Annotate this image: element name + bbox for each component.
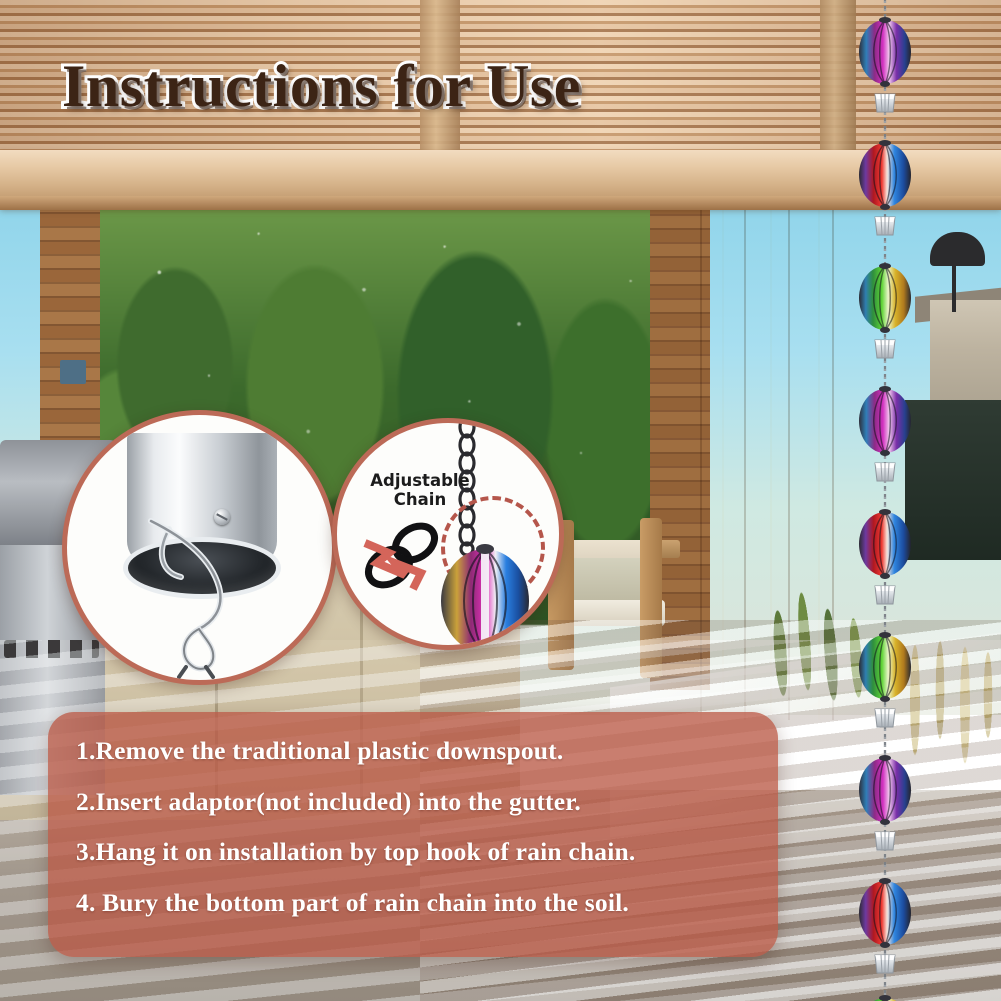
rain-chain bbox=[855, 0, 945, 1001]
instruction-step-2: 2.Insert adaptor(not included) into the … bbox=[76, 789, 778, 815]
page-title: Instructions for Use bbox=[62, 52, 581, 121]
instruction-step-4: 4. Bury the bottom part of rain chain in… bbox=[76, 890, 778, 916]
adjustable-chain-label-line2: Chain bbox=[394, 490, 446, 509]
stone-column-left bbox=[40, 200, 100, 450]
instructions-panel: 1.Remove the traditional plastic downspo… bbox=[48, 712, 778, 957]
chain-link-icon bbox=[359, 519, 445, 597]
callout-downspout-hook bbox=[62, 410, 337, 685]
s-hook-icon bbox=[107, 515, 307, 685]
adjustable-chain-label-line1: Adjustable bbox=[370, 471, 469, 490]
callout-adjustable-chain: Adjustable Chain bbox=[332, 418, 564, 650]
instruction-step-3: 3.Hang it on installation by top hook of… bbox=[76, 839, 778, 865]
pergola-fascia-trim bbox=[0, 196, 1001, 210]
product-instruction-image: Instructions for Use bbox=[0, 0, 1001, 1001]
wall-plaque bbox=[60, 360, 86, 384]
rain-chain-ornament bbox=[435, 541, 535, 650]
instruction-step-1: 1.Remove the traditional plastic downspo… bbox=[76, 738, 778, 764]
pergola-post-right bbox=[820, 0, 856, 175]
adjustable-chain-label: Adjustable Chain bbox=[365, 471, 475, 509]
wall-lamp-arm bbox=[952, 262, 956, 312]
